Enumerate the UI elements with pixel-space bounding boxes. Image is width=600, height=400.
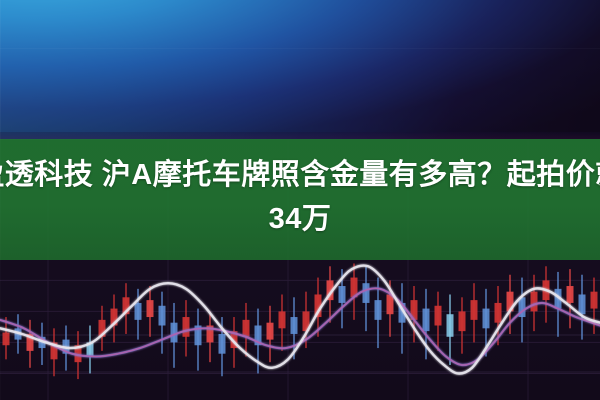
banner-image: 盈透科技 沪A摩托车牌照含金量有多高？起拍价就 34万 <box>0 0 600 400</box>
header-gradient-overlay <box>0 0 600 140</box>
title-band: 盈透科技 沪A摩托车牌照含金量有多高？起拍价就 34万 <box>0 139 600 260</box>
headline-line-2: 34万 <box>269 198 332 240</box>
headline-line-1: 盈透科技 沪A摩托车牌照含金量有多高？起拍价就 <box>0 154 600 196</box>
